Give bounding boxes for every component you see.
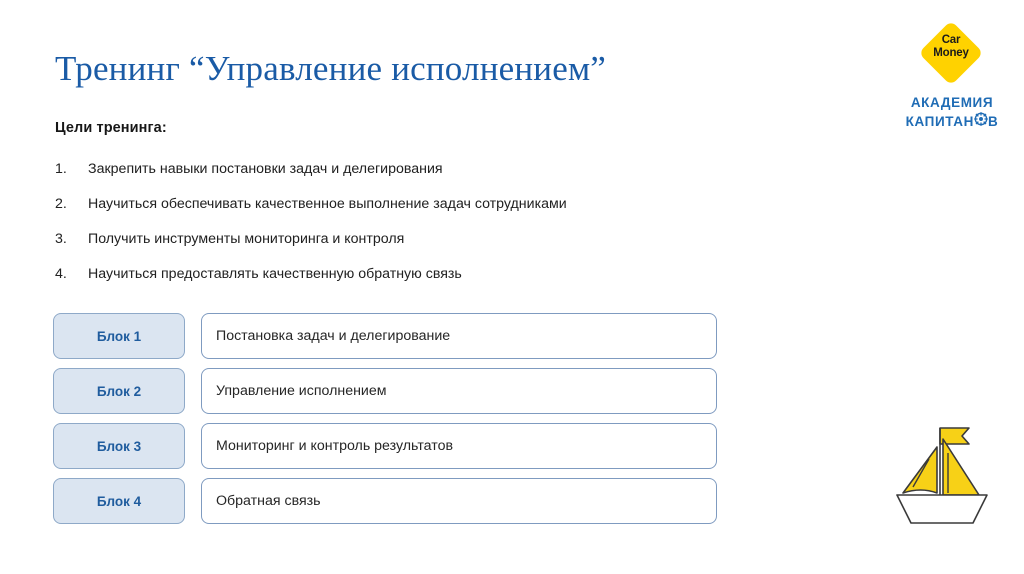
academy-line-2: КАПИТАН: [906, 112, 999, 131]
brand-logo: Car Money АКАДЕМИЯ КАПИТАН: [884, 22, 1020, 144]
list-item-label: Получить инструменты мониторинга и контр…: [88, 228, 404, 250]
academy-line-2-before: КАПИТАН: [906, 113, 974, 131]
carmoney-word-money: Money: [920, 47, 982, 60]
list-item-number: 4.: [55, 263, 81, 285]
sailboat-icon: [893, 423, 999, 531]
goals-heading: Цели тренинга:: [55, 120, 167, 136]
goals-list: 1. Закрепить навыки постановки задач и д…: [55, 158, 755, 298]
carmoney-wordmark: Car Money: [920, 34, 982, 59]
list-item: 3. Получить инструменты мониторинга и ко…: [55, 228, 755, 263]
list-item: 1. Закрепить навыки постановки задач и д…: [55, 158, 755, 193]
list-item-number: 3.: [55, 228, 81, 250]
page-title: Тренинг “Управление исполнением”: [55, 47, 606, 91]
module-label-badge[interactable]: Блок 4: [53, 478, 185, 524]
module-label-badge[interactable]: Блок 2: [53, 368, 185, 414]
module-title-box[interactable]: Постановка задач и делегирование: [201, 313, 717, 359]
carmoney-word-car: Car: [920, 34, 982, 47]
carmoney-diamond-icon: Car Money: [920, 22, 982, 90]
module-title-box[interactable]: Мониторинг и контроль результатов: [201, 423, 717, 469]
list-item: 4. Научиться предоставлять качественную …: [55, 263, 755, 298]
list-item: 2. Научиться обеспечивать качественное в…: [55, 193, 755, 228]
academy-line-2-after: В: [988, 113, 998, 131]
module-label-badge[interactable]: Блок 3: [53, 423, 185, 469]
module-title-box[interactable]: Обратная связь: [201, 478, 717, 524]
academy-wordmark: АКАДЕМИЯ КАПИТАН: [884, 94, 1020, 131]
slide: Тренинг “Управление исполнением” Цели тр…: [0, 0, 1024, 574]
academy-line-1: АКАДЕМИЯ: [884, 94, 1020, 112]
ship-wheel-icon: [974, 112, 988, 131]
module-title-box[interactable]: Управление исполнением: [201, 368, 717, 414]
list-item-label: Научиться обеспечивать качественное выпо…: [88, 193, 567, 215]
module-label-badge[interactable]: Блок 1: [53, 313, 185, 359]
list-item-label: Закрепить навыки постановки задач и деле…: [88, 158, 443, 180]
list-item-label: Научиться предоставлять качественную обр…: [88, 263, 462, 285]
list-item-number: 1.: [55, 158, 81, 180]
list-item-number: 2.: [55, 193, 81, 215]
